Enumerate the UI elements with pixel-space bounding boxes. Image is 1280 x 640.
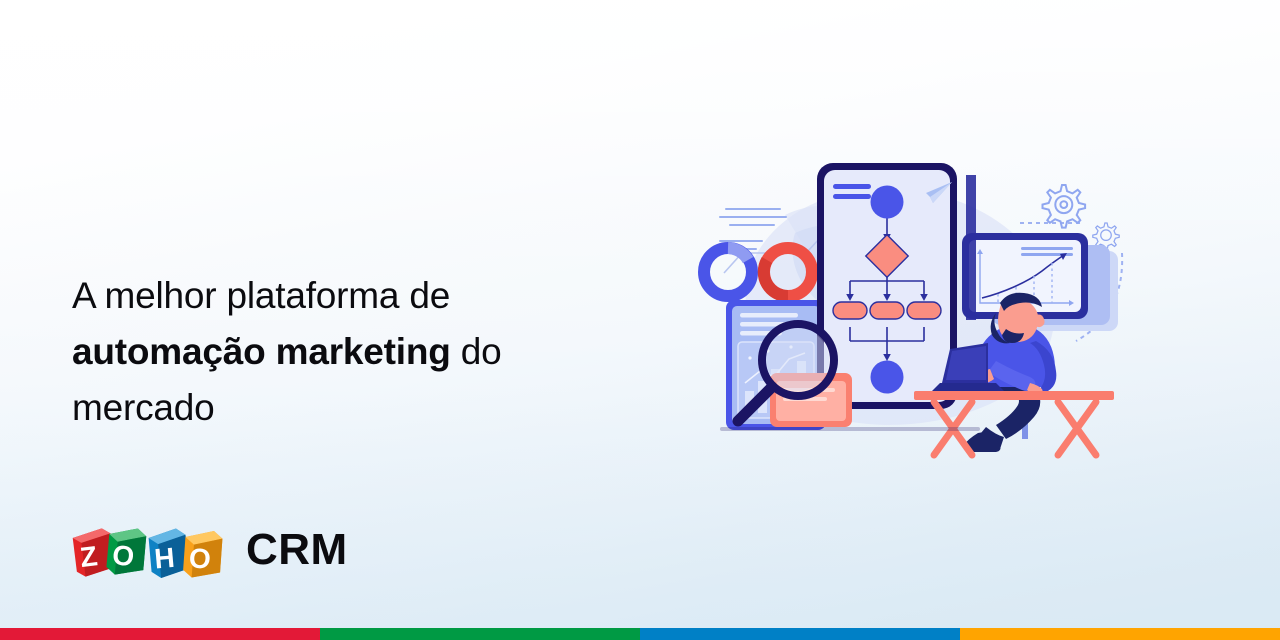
- brand-color-bar: [0, 628, 1280, 640]
- color-bar-segment-red: [0, 628, 320, 640]
- svg-text:H: H: [153, 542, 176, 575]
- marketing-automation-illustration: [690, 155, 1130, 465]
- svg-text:O: O: [111, 539, 135, 572]
- color-bar-segment-orange: [960, 628, 1280, 640]
- flow-task-right: [907, 302, 941, 319]
- zoho-crm-logo: Z O H: [70, 518, 348, 580]
- ground-line: [720, 427, 980, 431]
- flow-start-circle: [871, 186, 904, 219]
- page-title: A melhor plataforma de automação marketi…: [72, 268, 632, 436]
- color-bar-segment-green: [320, 628, 640, 640]
- headline-line-3: mercado: [72, 387, 215, 428]
- flow-task-left: [833, 302, 867, 319]
- color-bar-segment-blue: [640, 628, 960, 640]
- promo-banner: A melhor plataforma de automação marketi…: [0, 0, 1280, 640]
- headline-line-2-rest: do: [451, 331, 502, 372]
- flow-end-circle: [871, 361, 904, 394]
- headline-emphasis: automação marketing: [72, 331, 451, 372]
- logo-block-h: H: [148, 528, 189, 579]
- monitor-stack: [962, 175, 1118, 331]
- flow-task-center: [870, 302, 904, 319]
- donut-blue: [704, 248, 752, 296]
- zoho-logo-mark: Z O H: [70, 518, 230, 580]
- svg-text:O: O: [188, 542, 212, 574]
- tablet-flowchart: [817, 163, 957, 409]
- product-name: CRM: [246, 528, 348, 572]
- headline-line-1: A melhor plataforma de: [72, 275, 450, 316]
- logo-block-o1: O: [106, 526, 147, 577]
- logo-block-o2: O: [183, 529, 223, 579]
